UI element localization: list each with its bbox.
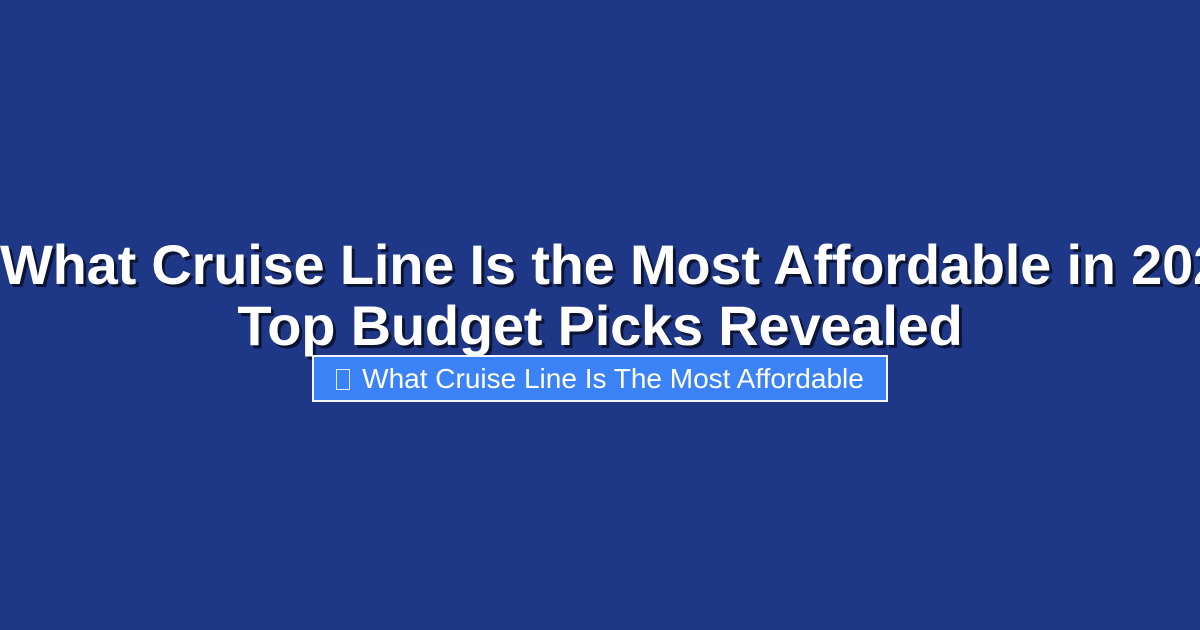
- page-title-line-1: What Cruise Line Is the Most Affordable …: [0, 234, 1200, 295]
- cta-button-label: What Cruise Line Is The Most Affordable: [362, 365, 864, 393]
- page-title-line-2: Top Budget Picks Revealed: [0, 295, 1200, 356]
- cta-button[interactable]: What Cruise Line Is The Most Affordable: [312, 355, 888, 402]
- missing-glyph-tofu-icon: [336, 369, 350, 390]
- cta-container: What Cruise Line Is The Most Affordable: [0, 355, 1200, 402]
- social-share-card: What Cruise Line Is the Most Affordable …: [0, 0, 1200, 630]
- page-title: What Cruise Line Is the Most Affordable …: [0, 234, 1200, 356]
